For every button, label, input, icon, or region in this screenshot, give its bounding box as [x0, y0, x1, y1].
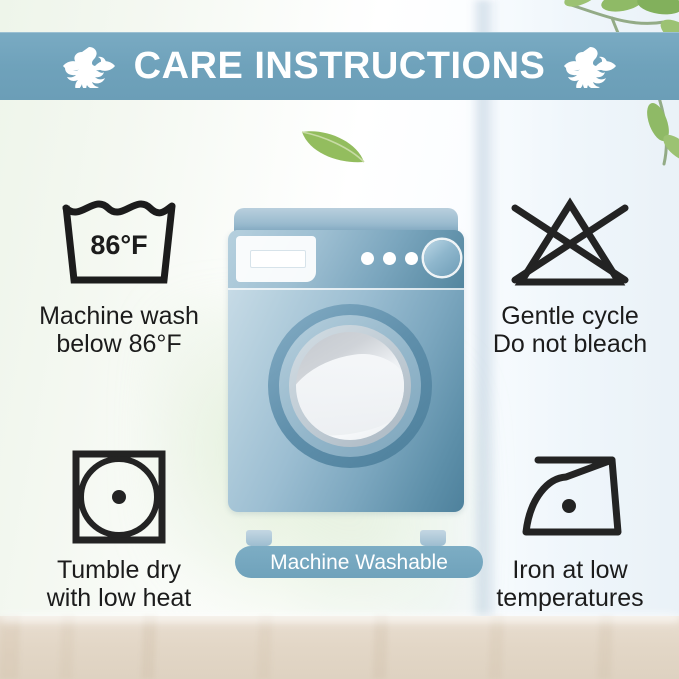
washer-display-panel [236, 236, 316, 282]
care-label-gentle-no-bleach: Gentle cycle Do not bleach [493, 302, 647, 358]
care-label-iron: Iron at low temperatures [496, 556, 643, 612]
washer-indicator-dot-2 [383, 252, 396, 265]
care-label-line1: Tumble dry [47, 556, 192, 584]
care-label-line1: Gentle cycle [493, 302, 647, 330]
washer-door-inner-ring [289, 325, 411, 447]
washer-foot-left [246, 530, 272, 546]
care-label-line2: with low heat [47, 584, 192, 612]
care-label-machine-wash: Machine wash below 86°F [39, 302, 199, 358]
care-item-machine-wash: 86°F Machine wash below 86°F [14, 196, 224, 358]
care-label-line1: Machine wash [39, 302, 199, 330]
care-item-gentle-no-bleach: Gentle cycle Do not bleach [465, 196, 675, 358]
washer-body [228, 230, 464, 512]
washer-door-glass [296, 332, 404, 440]
care-item-tumble-dry: Tumble dry with low heat [14, 446, 224, 612]
washer-indicator-dot-3 [405, 252, 418, 265]
care-label-tumble-dry: Tumble dry with low heat [47, 556, 192, 612]
care-item-iron: Iron at low temperatures [465, 446, 675, 612]
care-label-line1: Iron at low [496, 556, 643, 584]
fleur-de-lis-left-icon [58, 44, 120, 88]
machine-washable-badge: Machine Washable [235, 546, 483, 578]
page-title: CARE INSTRUCTIONS [134, 47, 546, 85]
tumble-dry-square-icon [64, 446, 174, 546]
care-label-line2: temperatures [496, 584, 643, 612]
table-edge-highlight [0, 614, 679, 626]
washer-program-knob [424, 240, 460, 276]
floating-leaf-decor [298, 122, 368, 166]
iron-icon [500, 446, 640, 546]
care-instructions-graphic: CARE INSTRUCTIONS [0, 0, 679, 679]
wash-temperature-value: 86°F [90, 230, 147, 260]
fleur-de-lis-right-icon [559, 44, 621, 88]
washer-indicator-dot-1 [361, 252, 374, 265]
washing-machine-illustration [228, 208, 464, 530]
care-label-line2: Do not bleach [493, 330, 647, 358]
badge-label: Machine Washable [270, 552, 448, 573]
washer-control-panel [228, 230, 464, 290]
triangle-crossed-icon [495, 196, 645, 292]
wash-tub-icon: 86°F [44, 196, 194, 292]
header-banner: CARE INSTRUCTIONS [0, 32, 679, 100]
washer-display-screen [250, 250, 306, 268]
care-label-line2: below 86°F [39, 330, 199, 358]
washer-door-highlight [296, 347, 404, 440]
washer-door-outer-ring [268, 304, 432, 468]
washer-door-mid-ring [279, 315, 421, 457]
washer-foot-right [420, 530, 446, 546]
